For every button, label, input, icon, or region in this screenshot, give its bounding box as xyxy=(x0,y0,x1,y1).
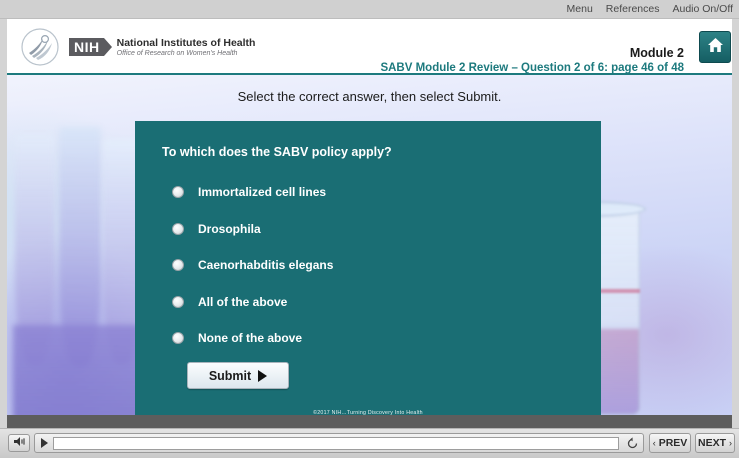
option-row-2[interactable]: Drosophila xyxy=(172,211,572,248)
nih-text-block: National Institutes of Health Office of … xyxy=(117,37,256,58)
nih-badge-label: NIH xyxy=(69,38,104,56)
option-label-5: None of the above xyxy=(198,330,302,346)
question-text: To which does the SABV policy apply? xyxy=(162,144,392,160)
top-utility-menu: Menu References Audio On/Off xyxy=(567,2,733,16)
option-row-1[interactable]: Immortalized cell lines xyxy=(172,174,572,211)
prev-button-inner: ‹ PREV xyxy=(653,437,688,449)
radio-button-icon[interactable] xyxy=(172,223,184,235)
top-utility-bar: Menu References Audio On/Off xyxy=(0,0,739,19)
nih-org-title: National Institutes of Health xyxy=(117,37,256,49)
option-row-5[interactable]: None of the above xyxy=(172,320,572,357)
prev-button[interactable]: ‹ PREV xyxy=(649,433,691,453)
submit-button[interactable]: Submit xyxy=(187,362,289,389)
option-row-4[interactable]: All of the above xyxy=(172,284,572,321)
hhs-seal-icon xyxy=(19,27,61,67)
nih-org-subtitle: Office of Research on Women's Health xyxy=(117,49,256,58)
quiz-panel: To which does the SABV policy apply? Imm… xyxy=(135,121,601,415)
header-titles: Module 2 SABV Module 2 Review – Question… xyxy=(380,46,684,76)
page-header: NIH National Institutes of Health Office… xyxy=(7,19,732,75)
chevron-left-icon: ‹ xyxy=(653,438,656,448)
seek-track[interactable] xyxy=(53,437,619,450)
home-button[interactable] xyxy=(699,31,731,63)
radio-button-icon[interactable] xyxy=(172,332,184,344)
home-icon xyxy=(707,37,724,58)
nih-wordmark: NIH National Institutes of Health Office… xyxy=(69,37,255,58)
course-player-window: Menu References Audio On/Off NIH Nationa… xyxy=(0,0,739,458)
prev-button-label: PREV xyxy=(659,437,688,449)
audio-on-off-link[interactable]: Audio On/Off xyxy=(672,2,733,16)
option-label-4: All of the above xyxy=(198,294,287,310)
play-button[interactable] xyxy=(35,438,53,448)
submit-button-label: Submit xyxy=(209,369,251,383)
menu-link[interactable]: Menu xyxy=(567,2,593,16)
play-icon xyxy=(40,438,49,448)
option-label-3: Caenorhabditis elegans xyxy=(198,257,333,273)
play-triangle-icon xyxy=(258,370,267,382)
next-button-inner: NEXT › xyxy=(698,437,732,449)
seek-bar-container xyxy=(34,433,644,453)
chevron-right-icon: › xyxy=(729,438,732,448)
radio-button-icon[interactable] xyxy=(172,259,184,271)
volume-button[interactable] xyxy=(8,434,30,452)
nih-logo: NIH National Institutes of Health Office… xyxy=(19,27,255,67)
answer-options-list: Immortalized cell lines Drosophila Caeno… xyxy=(172,174,572,357)
next-button[interactable]: NEXT › xyxy=(695,433,735,453)
slide-stage: Select the correct answer, then select S… xyxy=(7,75,732,415)
option-row-3[interactable]: Caenorhabditis elegans xyxy=(172,247,572,284)
option-label-1: Immortalized cell lines xyxy=(198,184,326,200)
references-link[interactable]: References xyxy=(606,2,660,16)
slide-footer-strip xyxy=(7,415,732,428)
option-label-2: Drosophila xyxy=(198,221,261,237)
replay-button[interactable] xyxy=(621,437,643,450)
module-title: Module 2 xyxy=(380,46,684,61)
radio-button-icon[interactable] xyxy=(172,296,184,308)
radio-button-icon[interactable] xyxy=(172,186,184,198)
slide-instruction: Select the correct answer, then select S… xyxy=(7,88,732,106)
next-button-label: NEXT xyxy=(698,437,726,449)
volume-icon xyxy=(13,434,26,452)
